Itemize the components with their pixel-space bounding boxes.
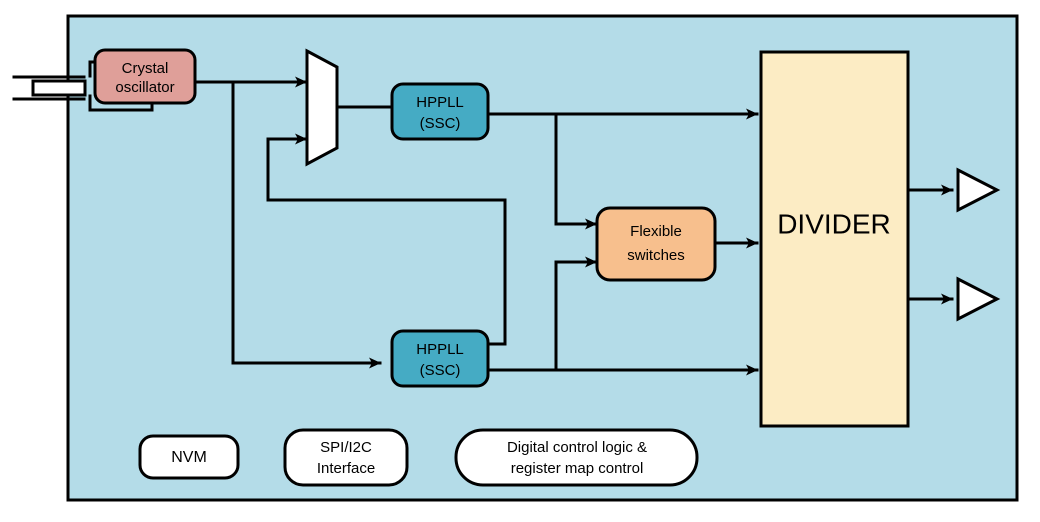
nvm-label: NVM	[171, 449, 207, 466]
flexible-switches-label-line1: Flexible	[630, 223, 682, 240]
hppll-bottom-block[interactable]: HPPLL (SSC)	[392, 331, 488, 386]
crystal-oscillator-label-line1: Crystal	[122, 60, 169, 77]
digital-control-label-line1: Digital control logic &	[507, 439, 647, 456]
spi-i2c-label-line1: SPI/I2C	[320, 439, 372, 456]
digital-control-label-line2: register map control	[511, 460, 644, 477]
digital-control-logic-block[interactable]: Digital control logic & register map con…	[456, 430, 697, 485]
hppll-top-label-line1: HPPLL	[416, 94, 464, 111]
divider-label: DIVIDER	[777, 208, 891, 239]
flexible-switches-label-line2: switches	[627, 247, 685, 264]
crystal-oscillator-label-line2: oscillator	[115, 79, 174, 96]
spi-i2c-label-line2: Interface	[317, 460, 375, 477]
block-diagram-canvas: Crystal oscillator HPPLL (SSC)	[0, 0, 1040, 522]
hppll-top-block[interactable]: HPPLL (SSC)	[392, 84, 488, 139]
mux-block[interactable]	[307, 51, 337, 164]
hppll-bottom-label-line2: (SSC)	[420, 362, 461, 379]
clock-generator-block-diagram: Crystal oscillator HPPLL (SSC)	[0, 0, 1040, 522]
spi-i2c-interface-block[interactable]: SPI/I2C Interface	[285, 430, 407, 485]
divider-block[interactable]: DIVIDER	[761, 52, 908, 426]
nvm-block[interactable]: NVM	[140, 436, 238, 478]
hppll-top-label-line2: (SSC)	[420, 115, 461, 132]
hppll-bottom-label-line1: HPPLL	[416, 341, 464, 358]
crystal-oscillator-block[interactable]: Crystal oscillator	[95, 50, 195, 103]
flexible-switches-block[interactable]: Flexible switches	[597, 208, 715, 280]
